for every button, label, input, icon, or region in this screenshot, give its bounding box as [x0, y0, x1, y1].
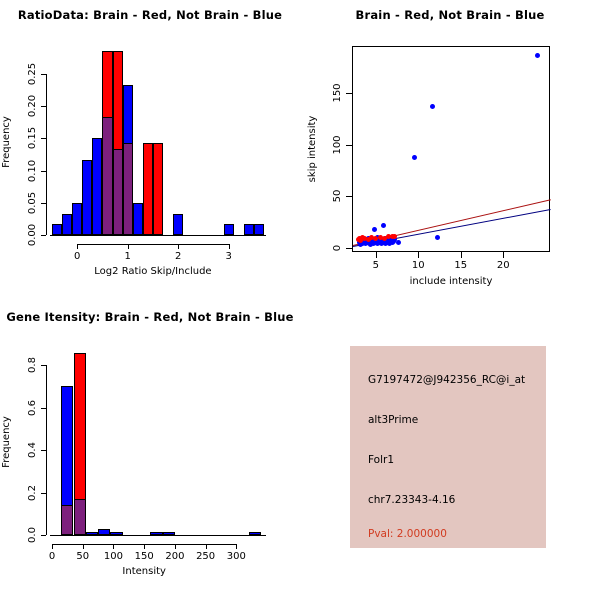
y-tick [346, 145, 352, 146]
x-tick [461, 252, 462, 258]
y-axis-line [46, 365, 47, 535]
y-tick-label: 0.0 [27, 527, 38, 543]
data-point [435, 235, 440, 240]
histogram-bar [110, 532, 122, 535]
y-tick [346, 93, 352, 94]
x-tick-label: 150 [135, 551, 154, 562]
x-tick [503, 252, 504, 258]
gene-intensity-histogram-title: Gene Itensity: Brain - Red, Not Brain - … [0, 310, 300, 324]
histogram-bar-overlap [123, 143, 133, 235]
x-tick-label: 10 [412, 260, 425, 271]
y-tick-label: 0.10 [27, 159, 38, 181]
y-tick-label: 0.05 [27, 192, 38, 214]
y-tick-label: 0.4 [27, 442, 38, 458]
histogram-bar-overlap [61, 505, 73, 535]
y-tick-label: 0 [332, 245, 343, 251]
x-tick [128, 244, 129, 249]
y-tick [41, 235, 46, 236]
y-tick [41, 203, 46, 204]
y-tick-label: 0.15 [27, 127, 38, 149]
x-tick [144, 544, 145, 549]
histogram-bar [244, 224, 254, 235]
y-tick [41, 450, 46, 451]
data-point [412, 155, 417, 160]
x-tick [77, 244, 78, 249]
y-tick [41, 408, 46, 409]
x-tick-label: 2 [175, 251, 181, 262]
x-axis-line [77, 244, 228, 245]
histogram-bar [224, 224, 234, 235]
histogram-bar [163, 532, 175, 535]
plot-canvas: RatioData: Brain - Red, Not Brain - Blue… [0, 0, 600, 600]
x-tick [418, 252, 419, 258]
x-tick-label: 20 [497, 260, 510, 271]
y-tick [41, 493, 46, 494]
gene-intensity-histogram: Gene Itensity: Brain - Red, Not Brain - … [0, 300, 300, 600]
histogram-bar-overlap [102, 117, 112, 235]
x-axis-label: Log2 Ratio Skip/Include [94, 266, 211, 277]
histogram-bar [92, 138, 102, 235]
histogram-bar [249, 532, 261, 535]
gene-info-panel: G7197472@J942356_RC@i_atalt3PrimeFolr1ch… [350, 346, 546, 548]
histogram-bar-overlap [74, 499, 86, 535]
x-tick-label: 200 [165, 551, 184, 562]
x-tick-label: 3 [225, 251, 231, 262]
x-tick [229, 244, 230, 249]
info-line-pval: Pval: 2.000000 [368, 528, 447, 540]
y-axis-label: Frequency [1, 416, 12, 468]
histogram-bar [143, 143, 153, 235]
baseline [50, 535, 266, 536]
y-tick-label: 150 [332, 84, 343, 103]
x-tick [83, 544, 84, 549]
y-axis-label: skip intensity [307, 116, 318, 183]
y-tick-label: 0.20 [27, 95, 38, 117]
y-axis-line [46, 74, 47, 235]
y-tick [346, 248, 352, 249]
data-point [396, 240, 401, 245]
data-point [430, 104, 435, 109]
y-tick [346, 196, 352, 197]
info-line-gene_symbol: Folr1 [368, 454, 394, 466]
plot-frame [352, 46, 550, 252]
y-tick-label: 0.6 [27, 400, 38, 416]
y-tick [41, 171, 46, 172]
y-tick [41, 74, 46, 75]
info-line-event_type: alt3Prime [368, 414, 418, 426]
ratio-histogram: RatioData: Brain - Red, Not Brain - Blue… [0, 0, 300, 300]
data-point [381, 223, 386, 228]
x-tick [206, 544, 207, 549]
data-point [535, 53, 540, 58]
x-tick-label: 300 [227, 551, 246, 562]
x-tick-label: 1 [125, 251, 131, 262]
y-tick [41, 138, 46, 139]
x-tick-label: 0 [49, 551, 55, 562]
histogram-bar [72, 203, 82, 235]
histogram-bar [86, 532, 98, 535]
histogram-bar [62, 214, 72, 235]
x-tick-label: 50 [76, 551, 89, 562]
histogram-bar [173, 214, 183, 235]
info-line-locus: chr7.23343-4.16 [368, 494, 455, 506]
y-tick [41, 535, 46, 536]
x-tick-label: 100 [104, 551, 123, 562]
info-line-probe_id: G7197472@J942356_RC@i_at [368, 374, 525, 386]
x-axis-label: include intensity [410, 276, 493, 287]
y-tick-label: 50 [332, 190, 343, 203]
x-tick [113, 544, 114, 549]
histogram-bar [254, 224, 264, 235]
y-tick-label: 0.00 [27, 224, 38, 246]
histogram-bar [150, 532, 162, 535]
histogram-bar [133, 203, 143, 235]
baseline [50, 235, 266, 236]
intensity-scatter: Brain - Red, Not Brain - Blue050100150sk… [300, 0, 600, 300]
data-point [372, 227, 377, 232]
histogram-bar [82, 160, 92, 235]
ratio-histogram-title: RatioData: Brain - Red, Not Brain - Blue [0, 8, 300, 22]
histogram-bar-overlap [113, 149, 123, 235]
y-tick-label: 0.25 [27, 63, 38, 85]
histogram-bar [153, 143, 163, 235]
intensity-scatter-title: Brain - Red, Not Brain - Blue [300, 8, 600, 22]
y-tick [41, 106, 46, 107]
data-point [358, 242, 363, 247]
x-tick [236, 544, 237, 549]
x-tick [178, 244, 179, 249]
x-tick [376, 252, 377, 258]
x-tick-label: 0 [74, 251, 80, 262]
x-tick-label: 15 [454, 260, 467, 271]
y-tick [41, 365, 46, 366]
y-tick-label: 0.8 [27, 357, 38, 373]
y-tick-label: 100 [332, 135, 343, 154]
histogram-bar [98, 529, 110, 535]
y-tick-label: 0.2 [27, 485, 38, 501]
x-tick [175, 544, 176, 549]
y-axis-label: Frequency [1, 116, 12, 168]
histogram-bar [52, 224, 62, 235]
x-tick [52, 544, 53, 549]
x-tick-label: 5 [373, 260, 379, 271]
x-tick-label: 250 [196, 551, 215, 562]
x-axis-label: Intensity [122, 566, 166, 577]
